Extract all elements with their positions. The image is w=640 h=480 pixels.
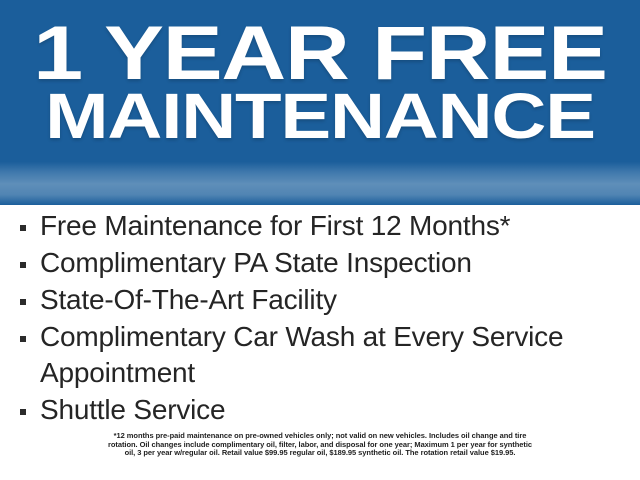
promotional-flyer: 1 YEAR FREE MAINTENANCE Free Maintenance… <box>0 0 640 480</box>
disclaimer-block: *12 months pre-paid maintenance on pre-o… <box>40 432 600 458</box>
list-item: Complimentary Car Wash at Every Service … <box>20 319 620 391</box>
benefit-text: Free Maintenance for First 12 Months* <box>40 208 620 244</box>
square-bullet-icon <box>20 299 26 305</box>
benefits-list: Free Maintenance for First 12 Months* Co… <box>20 208 620 429</box>
header-gradient-fade <box>0 158 640 205</box>
square-bullet-icon <box>20 262 26 268</box>
header-banner: 1 YEAR FREE MAINTENANCE <box>0 0 640 205</box>
list-item: State-Of-The-Art Facility <box>20 282 620 318</box>
benefit-text: Complimentary PA State Inspection <box>40 245 620 281</box>
list-item: Free Maintenance for First 12 Months* <box>20 208 620 244</box>
benefit-text: Shuttle Service <box>40 392 620 428</box>
square-bullet-icon <box>20 336 26 342</box>
headline-secondary: MAINTENANCE <box>0 84 640 148</box>
disclaimer-line: oil, 3 per year w/regular oil. Retail va… <box>40 449 600 458</box>
square-bullet-icon <box>20 225 26 231</box>
benefit-text: Complimentary Car Wash at Every Service … <box>40 319 620 391</box>
list-item: Complimentary PA State Inspection <box>20 245 620 281</box>
list-item: Shuttle Service <box>20 392 620 428</box>
square-bullet-icon <box>20 409 26 415</box>
benefit-text: State-Of-The-Art Facility <box>40 282 620 318</box>
